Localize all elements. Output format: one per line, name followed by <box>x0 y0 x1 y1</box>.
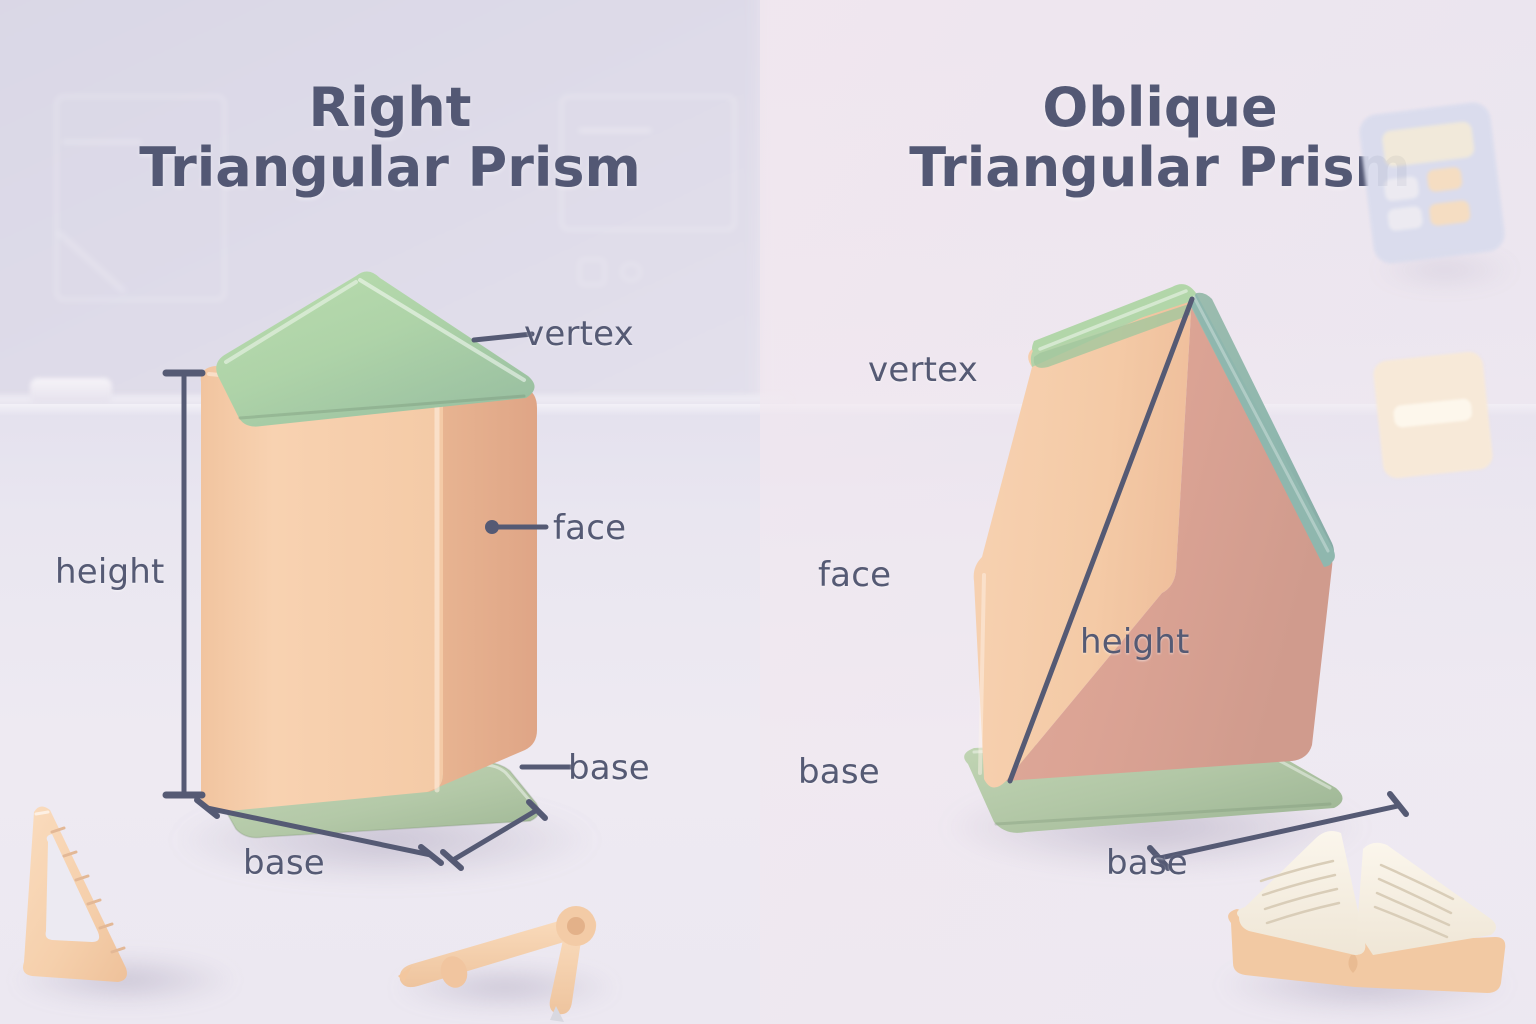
left-face-leader <box>484 512 554 542</box>
right-vertex-label: vertex <box>868 350 978 390</box>
open-book <box>1205 815 1536 1015</box>
right-base-bottom-label: base <box>1106 843 1188 883</box>
right-height-label: height <box>1080 622 1190 662</box>
triangular-ruler <box>18 800 278 1000</box>
left-face-label: face <box>553 508 626 548</box>
calculator <box>1352 100 1522 280</box>
right-face-label: face <box>818 555 891 595</box>
left-height-label: height <box>55 552 165 592</box>
left-vertex-label: vertex <box>524 314 634 354</box>
drawing-compass <box>380 890 640 1024</box>
left-base-side-label: base <box>568 748 650 788</box>
diagram-scene: Right Triangular Prism Oblique Triangula… <box>0 0 1536 1024</box>
eraser <box>1360 340 1520 500</box>
right-base-side-label: base <box>798 752 880 792</box>
